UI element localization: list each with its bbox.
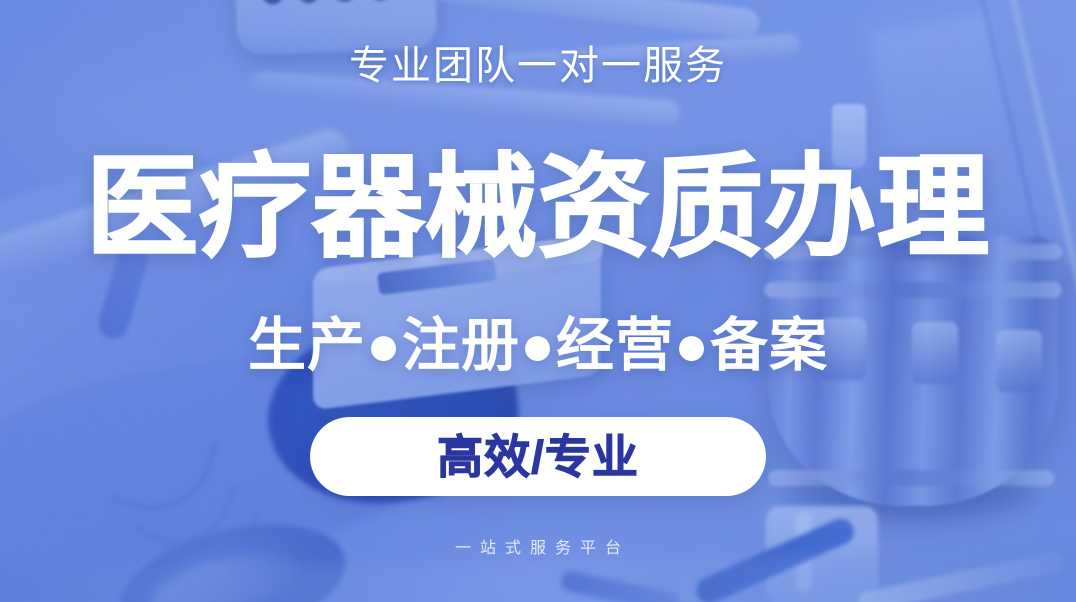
highlight-badge[interactable]: 高效/专业 [310, 417, 766, 496]
service-list: 生产●注册●经营●备案 [0, 316, 1076, 377]
footnote: 一站式服务平台 [0, 539, 1076, 558]
promotional-banner: 专业团队一对一服务 医疗器械资质办理 生产●注册●经营●备案 高效/专业 一站式… [0, 0, 1076, 602]
tagline: 专业团队一对一服务 [0, 46, 1076, 86]
highlight-badge-label: 高效/专业 [437, 434, 639, 480]
headline: 医疗器械资质办理 [0, 150, 1076, 266]
banner-content: 专业团队一对一服务 医疗器械资质办理 生产●注册●经营●备案 高效/专业 一站式… [0, 0, 1076, 602]
